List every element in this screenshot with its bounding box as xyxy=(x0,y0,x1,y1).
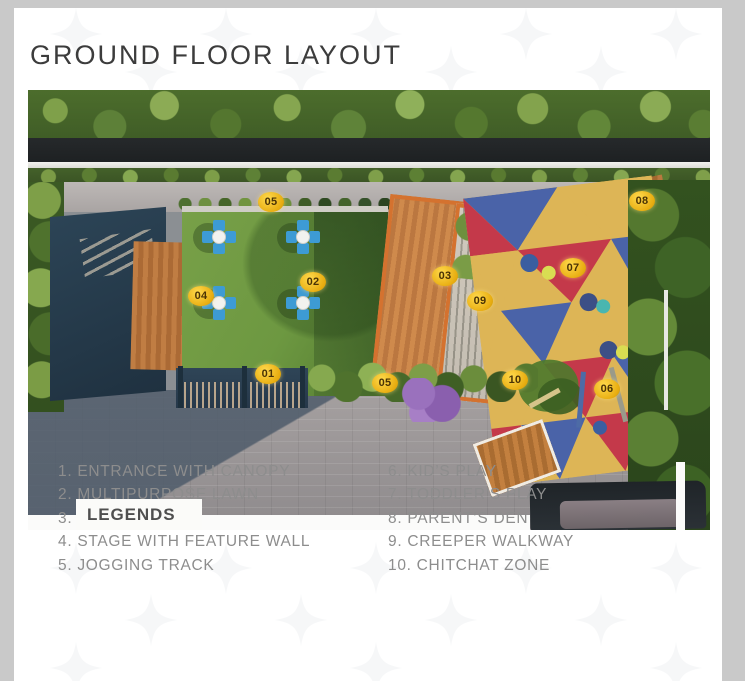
plan-marker-04[interactable]: 04 xyxy=(188,286,214,306)
plan-marker-03[interactable]: 03 xyxy=(432,266,458,286)
plan-marker-08[interactable]: 08 xyxy=(629,191,655,211)
plan-marker-01[interactable]: 01 xyxy=(255,364,281,384)
plan-marker-09[interactable]: 09 xyxy=(467,291,493,311)
legend-item: 10. CHITCHAT ZONE xyxy=(388,554,574,577)
page-title: GROUND FLOOR LAYOUT xyxy=(30,40,402,71)
legend-item: 9. CREEPER WALKWAY xyxy=(388,530,574,553)
legends-list-right: 6. KID’S PLAY7. TODDLER’S PLAY8. PARENT’… xyxy=(388,460,574,577)
legend-item: 7. TODDLER’S PLAY xyxy=(388,483,574,506)
legend-item: 8. PARENT’S DEN xyxy=(388,507,574,530)
patio-set xyxy=(202,220,236,254)
boundary-road-strip xyxy=(28,138,710,164)
legends-column-right: 6. KID’S PLAY7. TODDLER’S PLAY8. PARENT’… xyxy=(388,460,574,577)
patio-set xyxy=(286,220,320,254)
legend-item: 6. KID’S PLAY xyxy=(388,460,574,483)
plan-marker-02[interactable]: 02 xyxy=(300,272,326,292)
lawn-edge-path xyxy=(182,206,388,212)
tree-canopy-band xyxy=(28,90,710,142)
legend-item: 4. STAGE WITH FEATURE WALL xyxy=(58,530,388,553)
street-light-pole xyxy=(664,290,668,410)
legend-item: 1. ENTRANCE WITH CANOPY xyxy=(58,460,388,483)
flowering-shrub xyxy=(400,378,462,422)
plan-marker-07[interactable]: 07 xyxy=(560,258,586,278)
plan-marker-05-lower[interactable]: 05 xyxy=(372,373,398,393)
plan-marker-10[interactable]: 10 xyxy=(502,370,528,390)
gate-post xyxy=(178,366,183,408)
legend-item: 5. JOGGING TRACK xyxy=(58,554,388,577)
plan-marker-05[interactable]: 05 xyxy=(258,192,284,212)
legends-heading-box: LEGENDS xyxy=(76,499,202,530)
gate-post xyxy=(300,366,305,408)
gate-post xyxy=(242,366,247,408)
plan-marker-06[interactable]: 06 xyxy=(594,379,620,399)
layout-card: GROUND FLOOR LAYOUT xyxy=(14,8,722,681)
legends-heading: LEGENDS xyxy=(87,505,175,525)
